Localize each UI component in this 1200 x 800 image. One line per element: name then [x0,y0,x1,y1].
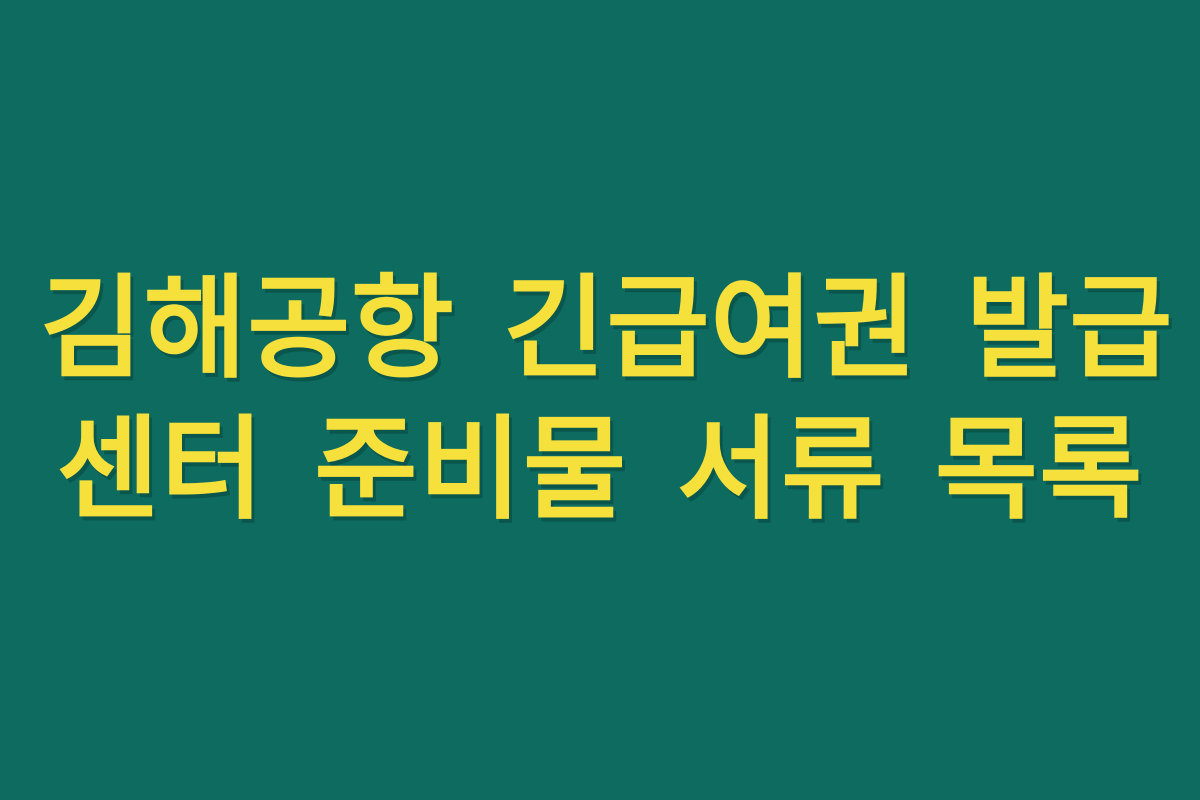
title-banner: 김해공항 긴급여권 발급 센터 준비물 서류 목록 [0,0,1200,800]
page-title-line-2: 센터 준비물 서류 목록 [40,400,1160,541]
page-title: 김해공항 긴급여권 발급 센터 준비물 서류 목록 [0,259,1200,541]
page-title-line-1: 김해공항 긴급여권 발급 [40,259,1160,400]
